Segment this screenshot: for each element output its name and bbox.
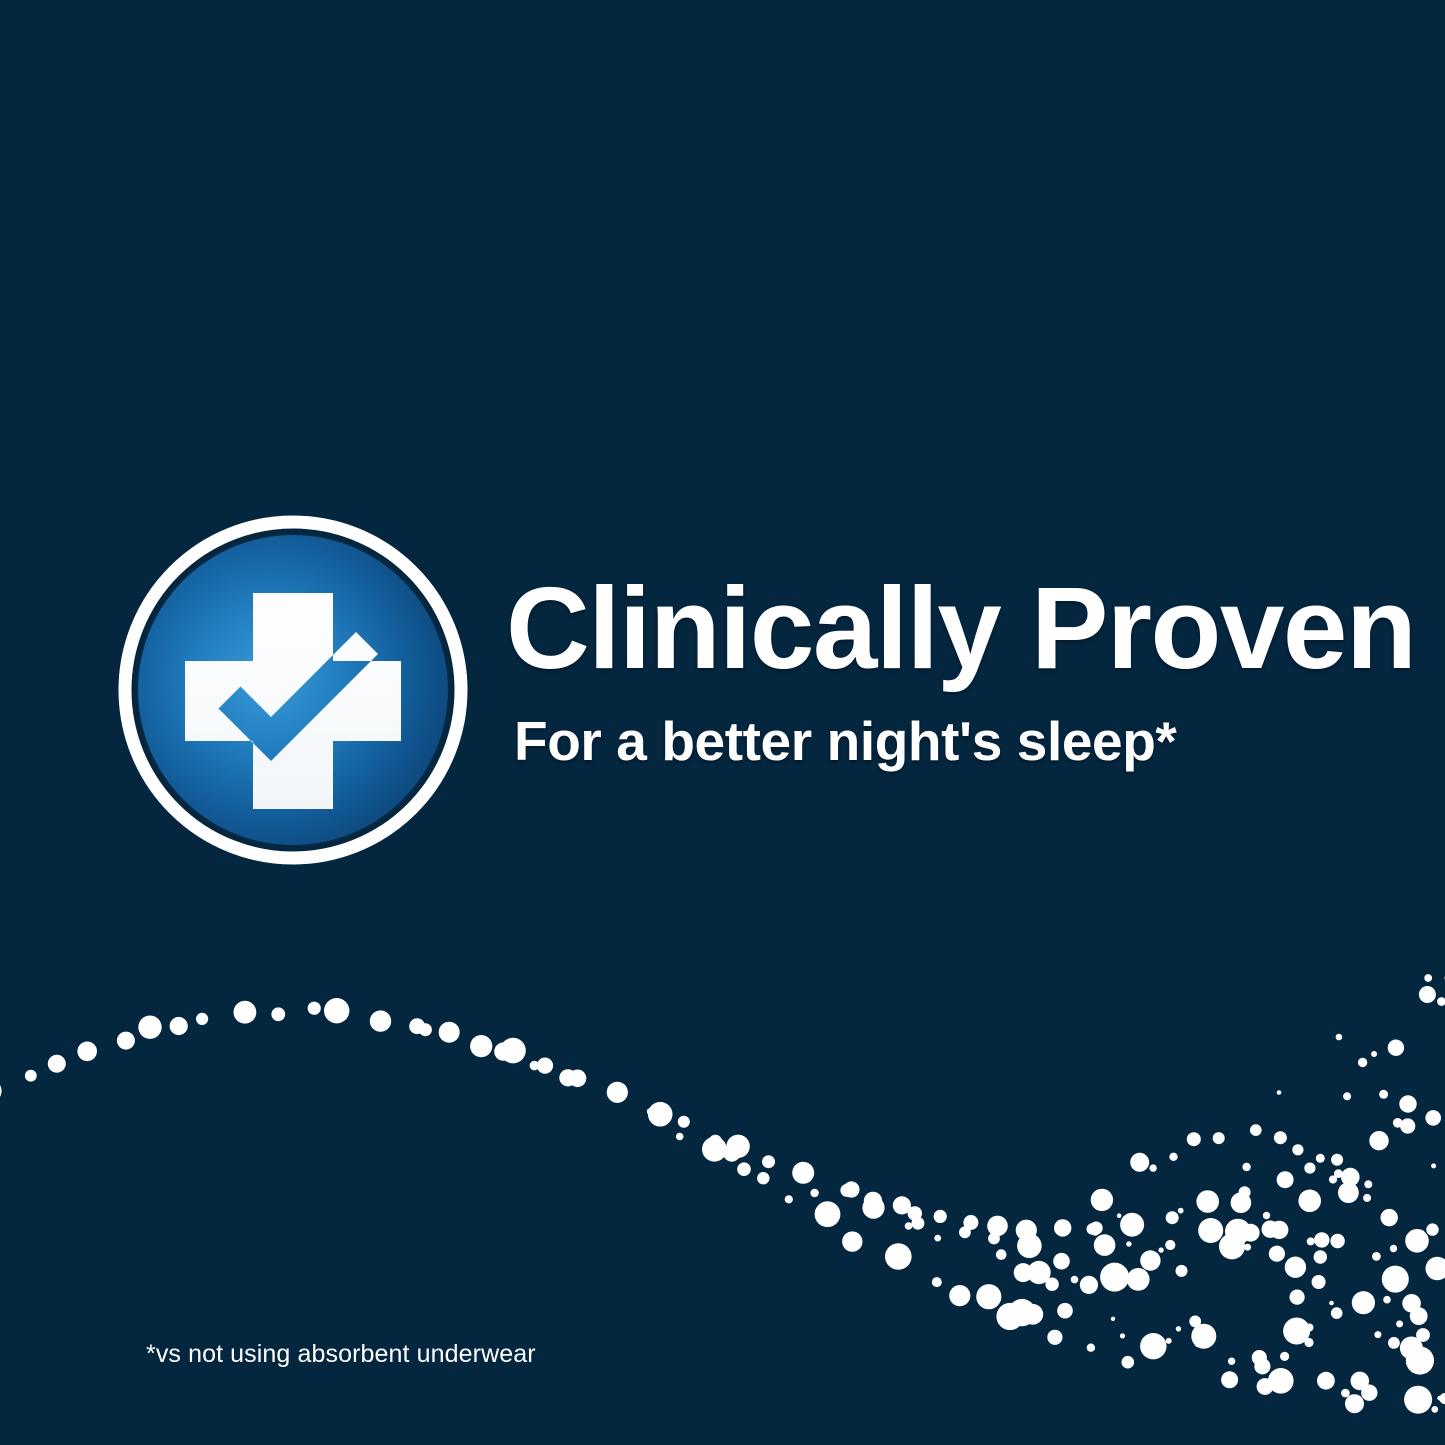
wave-dot [409,1018,425,1034]
wave-dot [1178,1208,1184,1214]
wave-dot [987,1216,1008,1237]
wave-dot [1148,1336,1166,1354]
wave-dot [1274,1131,1287,1144]
wave-dot [1269,1246,1285,1262]
wave-dot [1329,1175,1337,1183]
wave-dot [648,1102,673,1127]
wave-dot [1374,1331,1381,1338]
wave-dot [1027,1261,1050,1284]
wave-dot [0,1079,2,1102]
wave-dot [1228,1358,1235,1365]
wave-dot [1130,1153,1149,1172]
wave-dot [815,1201,841,1227]
wave-dot [1329,1301,1334,1306]
wave-dot [1399,1095,1416,1112]
wave-dot [1053,1253,1070,1270]
wave-dot [1317,1372,1335,1390]
wave-dot [1393,1118,1403,1128]
wave-dot [1122,1356,1135,1369]
wave-dot [676,1133,684,1141]
wave-dot [1165,1240,1175,1250]
page-title: Clinically Proven [506,570,1406,686]
wave-dot [932,1277,942,1287]
wave-dot [1363,1194,1371,1202]
wave-dot [1057,1303,1073,1319]
wave-dot [1361,1385,1377,1401]
wave-dot [1304,1163,1315,1174]
wave-dot [660,1113,670,1123]
wave-dot [77,1042,97,1062]
wave-dot [1390,1245,1397,1252]
wave-dot [963,1215,978,1230]
wave-dot [1191,1324,1216,1349]
wave-dot [840,1184,853,1197]
wave-dot [1045,1278,1058,1291]
wave-dot [1008,1299,1035,1326]
wave-dot [1331,1154,1343,1166]
wave-dot [1022,1304,1043,1325]
wave-dot [757,1172,769,1184]
wave-dot [1194,1338,1203,1347]
wave-dot [1017,1234,1042,1259]
wave-dot [996,1303,1023,1330]
wave-dot [1402,1294,1421,1313]
wave-dot [785,1195,793,1203]
wave-dot [1120,1213,1144,1237]
wave-dot [1166,1211,1179,1224]
wave-dot [1239,1186,1251,1198]
wave-dot [1189,1316,1201,1328]
wave-dot [537,1058,553,1074]
wave-dot [1400,1118,1415,1133]
wave-dot [1388,1040,1404,1056]
wave-dot [1343,1092,1351,1100]
wave-dot [1331,1307,1343,1319]
wave-dot [1330,1234,1344,1248]
wave-dot [1087,1223,1098,1234]
clinically-proven-badge [116,513,470,867]
wave-dot [271,1007,285,1021]
wave-dot [1277,1171,1294,1188]
wave-dot [862,1197,884,1219]
wave-dot [976,1284,1001,1309]
wave-dot [1047,1330,1062,1345]
wave-dot [1298,1190,1321,1213]
wave-dot [1242,1224,1260,1242]
wave-dot [905,1222,913,1230]
wave-dot [569,1070,587,1088]
wave-dot [1410,1307,1428,1325]
wave-dot [500,1038,526,1064]
wave-dot [1283,1318,1310,1345]
wave-dot [1120,1333,1125,1338]
wave-dot [1176,1265,1188,1277]
wave-dot [1405,1229,1429,1253]
wave-dot [1169,1153,1177,1161]
wave-dot [792,1162,814,1184]
wave-dot [1091,1189,1113,1211]
wave-dot [48,1055,66,1073]
wave-dot [1262,1221,1279,1238]
wave-dot [1382,1266,1409,1293]
wave-dot [1080,1276,1098,1294]
wave-dot [1338,1182,1359,1203]
wave-dot [1290,1290,1305,1305]
wave-dot [1071,1276,1079,1284]
wave-dot [885,1243,912,1270]
wave-dot [1140,1250,1160,1270]
headline-block: Clinically Proven For a better night's s… [506,570,1406,769]
wave-dot [1263,1212,1270,1219]
wave-dot [1127,1268,1150,1291]
wave-dot [324,998,349,1023]
wave-dot [934,1210,947,1223]
wave-dot [1201,1224,1209,1232]
wave-dot [419,1023,432,1036]
wave-dot [1225,1219,1251,1245]
wave-dot [1141,1338,1153,1350]
wave-dot [1257,1378,1274,1395]
wave-dot [893,1196,911,1214]
wave-dot [1196,1190,1219,1213]
wave-dot [1219,1233,1245,1259]
wave-dot [1252,1350,1267,1365]
wave-dot [1111,1317,1115,1321]
wave-dot [1090,1222,1103,1235]
wave-dot [439,1022,460,1043]
wave-dot [911,1217,924,1230]
wave-dot [1351,1372,1370,1391]
wave-dot [1197,1328,1216,1347]
wave-dot [1016,1220,1037,1241]
wave-dot [196,1013,208,1025]
wave-dot [1414,1230,1425,1241]
wave-dot [1388,1337,1400,1349]
wave-dot [1431,1163,1436,1168]
wave-dot [1341,1389,1350,1398]
promo-banner: Clinically Proven For a better night's s… [0,0,1445,1445]
wave-dot [709,1135,723,1149]
wave-dot [1270,1221,1288,1239]
wave-dot [1426,1257,1445,1281]
wave-dot [1372,1252,1381,1261]
wave-dot [1158,1247,1163,1252]
wave-dot [1306,1324,1314,1332]
wave-dot [1140,1333,1166,1359]
wave-dot [530,1061,540,1071]
wave-dot [1396,1320,1403,1327]
wave-dot [988,1233,1000,1245]
wave-dot [1369,1131,1388,1150]
wave-dot [559,1069,576,1086]
wave-dot [1242,1163,1250,1171]
wave-dot [1254,1358,1270,1374]
wave-dot [1054,1219,1071,1236]
wave-dot [1094,1234,1116,1256]
wave-dot [1304,1338,1313,1347]
wave-dot [1404,1386,1432,1414]
wave-dot [723,1145,740,1162]
wave-dot [934,1235,941,1242]
wave-dot [1371,1051,1377,1057]
wave-dot [864,1192,882,1210]
footnote-text: *vs not using absorbent underwear [146,1340,536,1369]
wave-dot [1424,974,1432,982]
wave-dot [1314,1250,1327,1263]
wave-dot [1312,1275,1326,1289]
wave-dot [1379,1090,1388,1099]
wave-dot [1416,1328,1430,1342]
wave-dot [1406,1346,1434,1374]
wave-dot [308,1002,321,1015]
wave-dot [170,1017,188,1035]
wave-dot [1221,1371,1238,1388]
wave-dot [726,1135,749,1158]
wave-dot [1117,1213,1122,1218]
wave-dot [1250,1124,1262,1136]
wave-dot [678,1116,690,1128]
wave-dot [1341,1168,1360,1187]
wave-dot [1014,1263,1033,1282]
wave-dot [1269,1379,1282,1392]
wave-dot [647,1108,654,1115]
wave-dot [1176,1326,1181,1331]
wave-dot [1166,1338,1172,1344]
wave-dot [1437,997,1445,1006]
wave-dot [737,1162,751,1176]
wave-dot [1431,1406,1438,1413]
wave-dot [370,1010,391,1031]
wave-dot [908,1206,922,1220]
wave-dot [949,1285,970,1306]
wave-dot [1400,1337,1423,1360]
wave-dot [1285,1257,1306,1278]
wave-dot [702,1137,727,1162]
wave-dot [494,1042,512,1060]
wave-dot [1126,1241,1131,1246]
wave-dot [810,1189,818,1197]
wave-dot [1358,1058,1367,1067]
wave-dot [1277,1090,1282,1095]
wave-dot [1334,1169,1343,1178]
wave-dot [1292,1144,1303,1155]
wave-dot [1314,1232,1329,1247]
wave-dot [1244,1244,1251,1251]
wave-dot [25,1070,37,1082]
wave-dot [1100,1263,1129,1292]
wave-dot [1352,1291,1375,1314]
wave-dot [1425,1110,1441,1126]
wave-dot [234,1001,257,1024]
wave-dot [607,1082,628,1103]
page-subtitle: For a better night's sleep* [514,714,1406,769]
wave-dot [1187,1132,1201,1146]
wave-dot [1149,1164,1156,1171]
wave-dot [1026,1221,1033,1228]
wave-dot [843,1181,859,1197]
wave-dot [1426,1223,1438,1235]
wave-dot [842,1231,862,1251]
wave-dot [470,1035,492,1057]
wave-dot [1280,1352,1289,1361]
wave-dot [996,1249,1007,1260]
wave-dot [1336,1034,1343,1041]
wave-dot [1087,1344,1095,1352]
wave-dot [1268,1368,1294,1394]
wave-dot [762,1155,775,1168]
wave-dot [1406,1233,1417,1244]
wave-dot [117,1032,135,1050]
wave-dot [1226,1236,1238,1248]
wave-dot [138,1015,161,1038]
wave-dot [1231,1192,1252,1213]
wave-dot [1213,1132,1225,1144]
wave-dot [959,1226,971,1238]
wave-dot [1419,986,1436,1003]
wave-dot [1304,1196,1315,1207]
wave-dot [1345,1394,1364,1413]
wave-dot [1307,1237,1315,1245]
wave-dot [1198,1218,1223,1243]
wave-dot [1091,1227,1100,1236]
wave-dot [1056,1220,1068,1232]
wave-dot [1383,1296,1391,1304]
wave-dot [1364,1180,1372,1188]
wave-dot [1316,1154,1325,1163]
wave-dot [1437,1396,1442,1401]
wave-dot [1381,1209,1398,1226]
wave-dot [1439,1393,1445,1404]
